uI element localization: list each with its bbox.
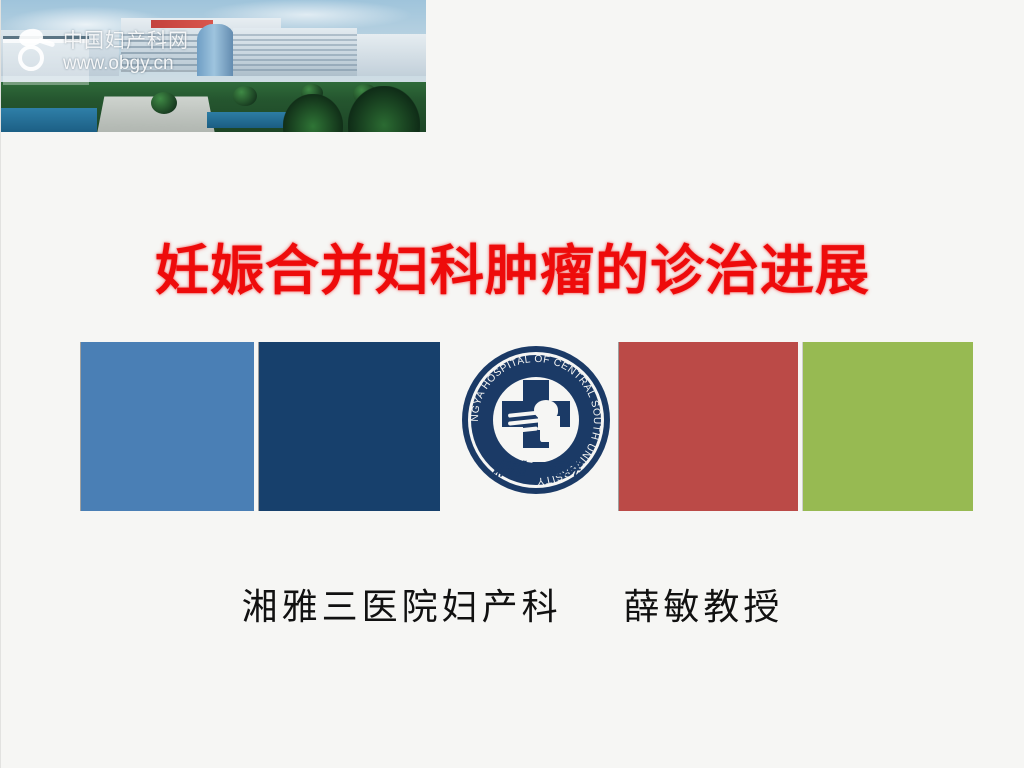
hospital-campus-photo: 中国妇产科网 www.obgy.cn bbox=[1, 0, 426, 132]
block-blue-dark bbox=[259, 342, 440, 511]
photo-shrub bbox=[151, 92, 177, 114]
presenter-line: 湘雅三医院妇产科 薛敏教授 bbox=[1, 578, 1024, 630]
photo-shrub bbox=[233, 86, 257, 106]
page-title: 妊娠合并妇科肿瘤的诊治进展 bbox=[1, 243, 1024, 300]
photo-pool-center bbox=[207, 112, 287, 128]
hospital-logo: THE THIRD XIANGYA HOSPITAL OF CENTRAL SO… bbox=[462, 346, 610, 494]
photo-building-right bbox=[233, 28, 357, 76]
photo-building-round bbox=[197, 24, 235, 76]
photo-palm-right bbox=[348, 86, 420, 132]
presentation-slide: 中国妇产科网 www.obgy.cn 妊娠合并妇科肿瘤的诊治进展 THE THI… bbox=[0, 0, 1024, 768]
photo-palm-center bbox=[283, 94, 343, 132]
dove-icon bbox=[508, 398, 564, 442]
photo-pergola bbox=[3, 36, 89, 85]
block-red bbox=[619, 342, 798, 511]
block-green bbox=[803, 342, 973, 511]
photo-pool-left bbox=[1, 108, 97, 132]
hospital-logo-chinese-name: 湘雅三医院 bbox=[461, 455, 612, 480]
photo-building-far bbox=[357, 34, 426, 76]
block-blue-light bbox=[81, 342, 254, 511]
